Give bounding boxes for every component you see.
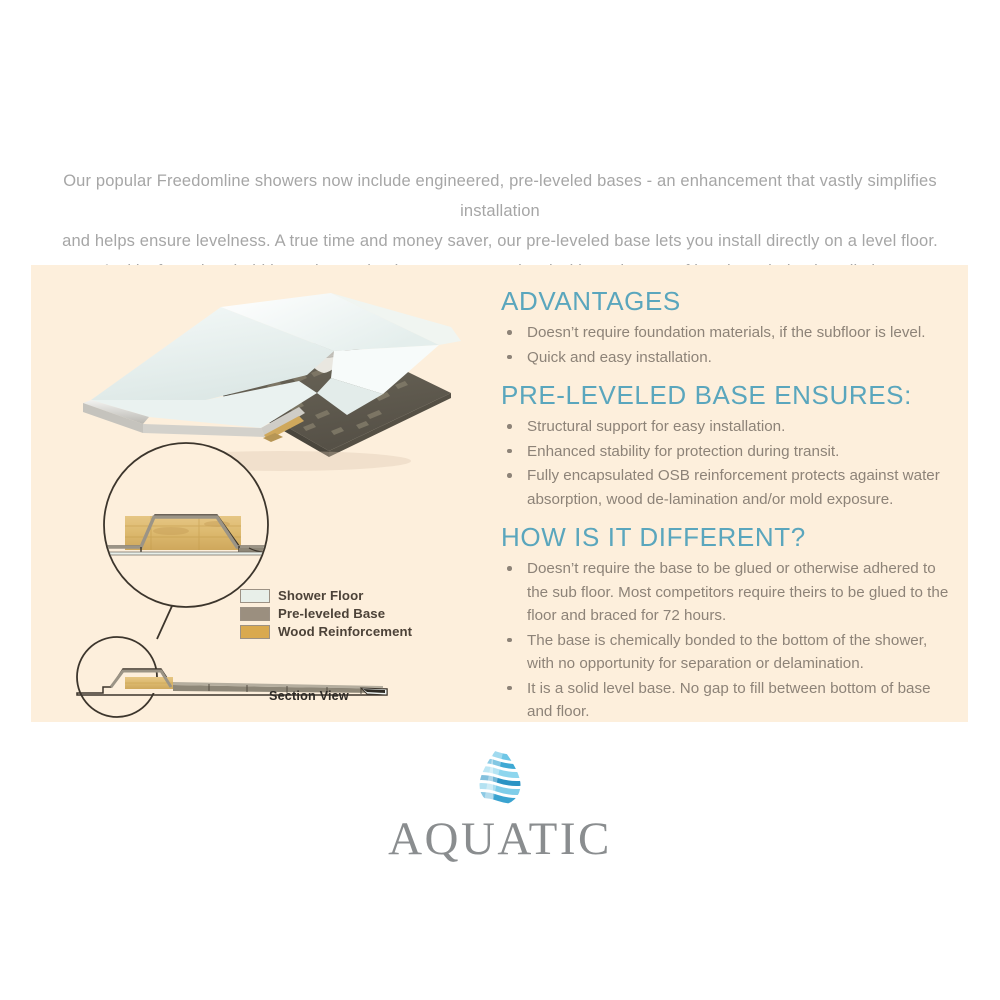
list-item-text: Enhanced stability for protection during… [527, 443, 839, 460]
legend-item: Pre-leveled Base [240, 605, 412, 622]
brand-logo: AQUATIC [0, 742, 1000, 866]
legend-label: Pre-leveled Base [278, 606, 385, 621]
materials-legend: Shower Floor Pre-leveled Base Wood Reinf… [240, 587, 412, 641]
heading-pre-leveled-base-ensures: PRE-LEVELED BASE ENSURES: [501, 379, 956, 411]
document-page: Our popular Freedomline showers now incl… [0, 0, 1000, 1000]
bullet-dot-icon [507, 330, 512, 335]
feature-panel: Shower Floor Pre-leveled Base Wood Reinf… [31, 265, 968, 722]
list-item: Doesn’t require foundation materials, if… [501, 321, 956, 345]
list-item: Doesn’t require the base to be glued or … [501, 557, 956, 628]
heading-advantages: ADVANTAGES [501, 285, 956, 317]
legend-swatch-shower-floor [240, 589, 270, 603]
water-droplet-icon [469, 742, 531, 808]
list-item-text: The base is chemically bonded to the bot… [527, 632, 927, 673]
list-item: Fully encapsulated OSB reinforcement pro… [501, 464, 956, 511]
bullet-dot-icon [507, 473, 512, 478]
list-item: Enhanced stability for protection during… [501, 440, 956, 464]
intro-line-2: and helps ensure levelness. A true time … [30, 226, 970, 256]
bullet-dot-icon [507, 424, 512, 429]
magnifier-leader-line [157, 606, 172, 639]
bullet-list-different: Doesn’t require the base to be glued or … [501, 557, 956, 724]
bullet-dot-icon [507, 449, 512, 454]
legend-swatch-pre-leveled-base [240, 607, 270, 621]
legend-item: Wood Reinforcement [240, 623, 412, 640]
list-item-text: Doesn’t require foundation materials, if… [527, 324, 925, 341]
list-item: Structural support for easy installation… [501, 415, 956, 439]
brand-wordmark: AQUATIC [0, 812, 1000, 866]
legend-label: Wood Reinforcement [278, 624, 412, 639]
list-item-text: Fully encapsulated OSB reinforcement pro… [527, 467, 940, 508]
intro-line-1: Our popular Freedomline showers now incl… [30, 166, 970, 226]
bullet-dot-icon [507, 566, 512, 571]
list-item: The base is chemically bonded to the bot… [501, 629, 956, 676]
bullet-dot-icon [507, 638, 512, 643]
legend-swatch-wood-reinforcement [240, 625, 270, 639]
list-item-text: Structural support for easy installation… [527, 418, 785, 435]
legend-item: Shower Floor [240, 587, 412, 604]
perspective-base-graphic [83, 293, 461, 471]
legend-label: Shower Floor [278, 588, 363, 603]
bullet-dot-icon [507, 686, 512, 691]
bullet-dot-icon [507, 355, 512, 360]
heading-how-is-it-different: HOW IS IT DIFFERENT? [501, 521, 956, 553]
section-view-caption: Section View [269, 689, 349, 703]
bullet-list-advantages: Doesn’t require foundation materials, if… [501, 321, 956, 369]
list-item: Quick and easy installation. [501, 346, 956, 370]
bullet-list-ensures: Structural support for easy installation… [501, 415, 956, 511]
list-item-text: Quick and easy installation. [527, 349, 712, 366]
list-item-text: It is a solid level base. No gap to fill… [527, 680, 931, 721]
list-item-text: Doesn’t require the base to be glued or … [527, 560, 948, 624]
features-column: ADVANTAGES Doesn’t require foundation ma… [501, 285, 956, 734]
list-item: It is a solid level base. No gap to fill… [501, 677, 956, 724]
